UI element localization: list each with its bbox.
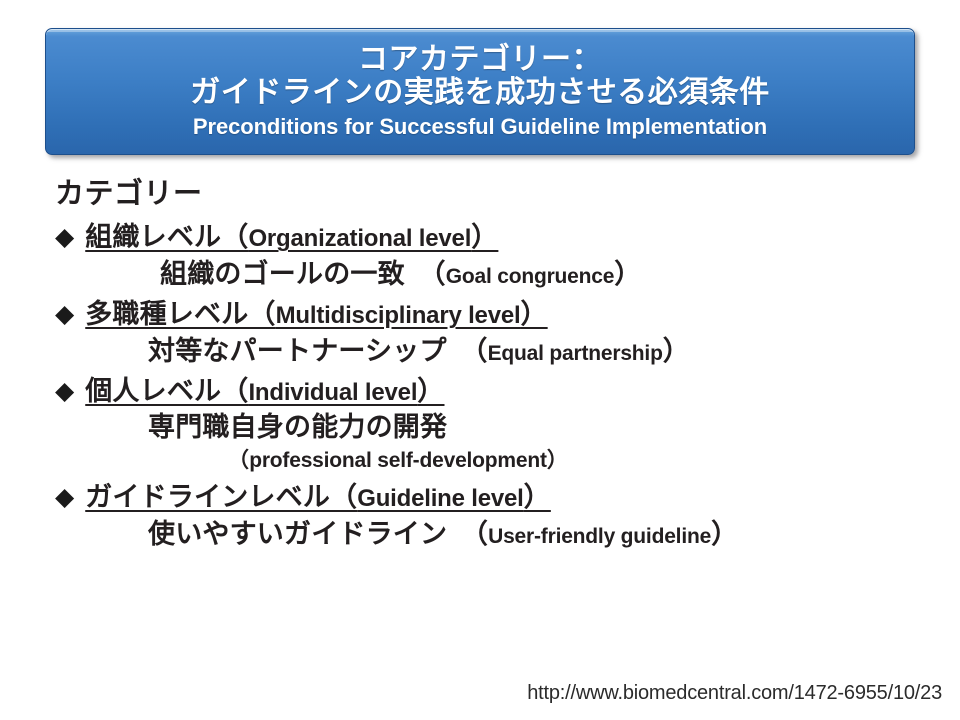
sub-line-jp: 組織のゴールの一致 （: [160, 259, 446, 289]
sub-line-jp: 専門職自身の能力の開発: [148, 412, 447, 442]
bullet-heading-close: ）: [471, 222, 498, 252]
bullet-group-guideline: ◆ ガイドラインレベル（Guideline level） 使いやすいガイドライン…: [0, 482, 960, 550]
title-japanese-line-1: コアカテゴリー：: [358, 44, 602, 75]
bullet-group-individual: ◆ 個人レベル（Individual level） 専門職自身の能力の開発 （p…: [0, 376, 960, 473]
bullet-group-organizational: ◆ 組織レベル（Organizational level） 組織のゴールの一致 …: [0, 222, 960, 290]
sub-line: 組織のゴールの一致 （Goal congruence）: [160, 259, 960, 290]
body-content: カテゴリー ◆ 組織レベル（Organizational level） 組織のゴ…: [0, 178, 960, 550]
bullet-row: ◆ 組織レベル（Organizational level）: [55, 222, 960, 254]
diamond-bullet-icon: ◆: [55, 485, 74, 510]
sub-line-jp: （: [228, 449, 249, 472]
bullet-row: ◆ 個人レベル（Individual level）: [55, 376, 960, 408]
bullet-row: ◆ ガイドラインレベル（Guideline level）: [55, 482, 960, 514]
section-heading-category: カテゴリー: [55, 178, 960, 211]
bullet-group-multidisciplinary: ◆ 多職種レベル（Multidisciplinary level） 対等なパート…: [0, 299, 960, 367]
title-japanese-line-2: ガイドラインの実践を成功させる必須条件: [190, 76, 770, 110]
bullet-heading-jp: 個人レベル（: [85, 376, 248, 406]
bullet-heading-jp: 組織レベル（: [85, 222, 248, 252]
sub-line-en: Equal partnership: [488, 342, 663, 365]
sub-line-jp: 対等なパートナーシップ （: [148, 336, 488, 366]
diamond-bullet-icon: ◆: [55, 302, 74, 327]
sub-line-close: ）: [614, 259, 641, 289]
sub-line-en: Goal congruence: [446, 265, 615, 288]
bullet-heading: 多職種レベル（Multidisciplinary level）: [85, 299, 547, 331]
bullet-heading: ガイドラインレベル（Guideline level）: [85, 482, 551, 514]
bullet-heading: 個人レベル（Individual level）: [85, 376, 444, 408]
source-url-text: http://www.biomedcentral.com/1472-6955/1…: [527, 682, 942, 705]
sub-line-close: ）: [547, 449, 568, 472]
sub-line: 使いやすいガイドライン （User-friendly guideline）: [148, 519, 960, 550]
title-english-subtitle: Preconditions for Successful Guideline I…: [193, 115, 767, 139]
sub-line-jp: 使いやすいガイドライン （: [148, 519, 488, 549]
sub-line-en: professional self-development: [249, 449, 547, 472]
diamond-bullet-icon: ◆: [55, 225, 74, 250]
bullet-heading-en: Guideline level: [357, 485, 523, 512]
bullet-heading-close: ）: [417, 376, 444, 406]
sub-line-close: ）: [711, 519, 738, 549]
bullet-row: ◆ 多職種レベル（Multidisciplinary level）: [55, 299, 960, 331]
bullet-heading-close: ）: [520, 299, 547, 329]
bullet-heading-close: ）: [524, 482, 551, 512]
sub-line: 専門職自身の能力の開発: [148, 412, 960, 443]
bullet-heading-en: Multidisciplinary level: [276, 302, 521, 329]
bullet-heading-jp: 多職種レベル（: [85, 299, 275, 329]
bullet-heading-jp: ガイドラインレベル（: [85, 482, 357, 512]
slide-canvas: コアカテゴリー： ガイドラインの実践を成功させる必須条件 Preconditio…: [0, 0, 960, 720]
bullet-heading-en: Organizational level: [248, 225, 471, 252]
sub-line: 対等なパートナーシップ （Equal partnership）: [148, 336, 960, 367]
title-banner: コアカテゴリー： ガイドラインの実践を成功させる必須条件 Preconditio…: [45, 28, 915, 155]
sub-line-en: User-friendly guideline: [488, 525, 711, 548]
diamond-bullet-icon: ◆: [55, 379, 74, 404]
bullet-heading-en: Individual level: [248, 379, 417, 406]
bullet-heading: 組織レベル（Organizational level）: [85, 222, 498, 254]
sub-line: （professional self-development）: [228, 449, 960, 473]
sub-line-close: ）: [663, 336, 690, 366]
